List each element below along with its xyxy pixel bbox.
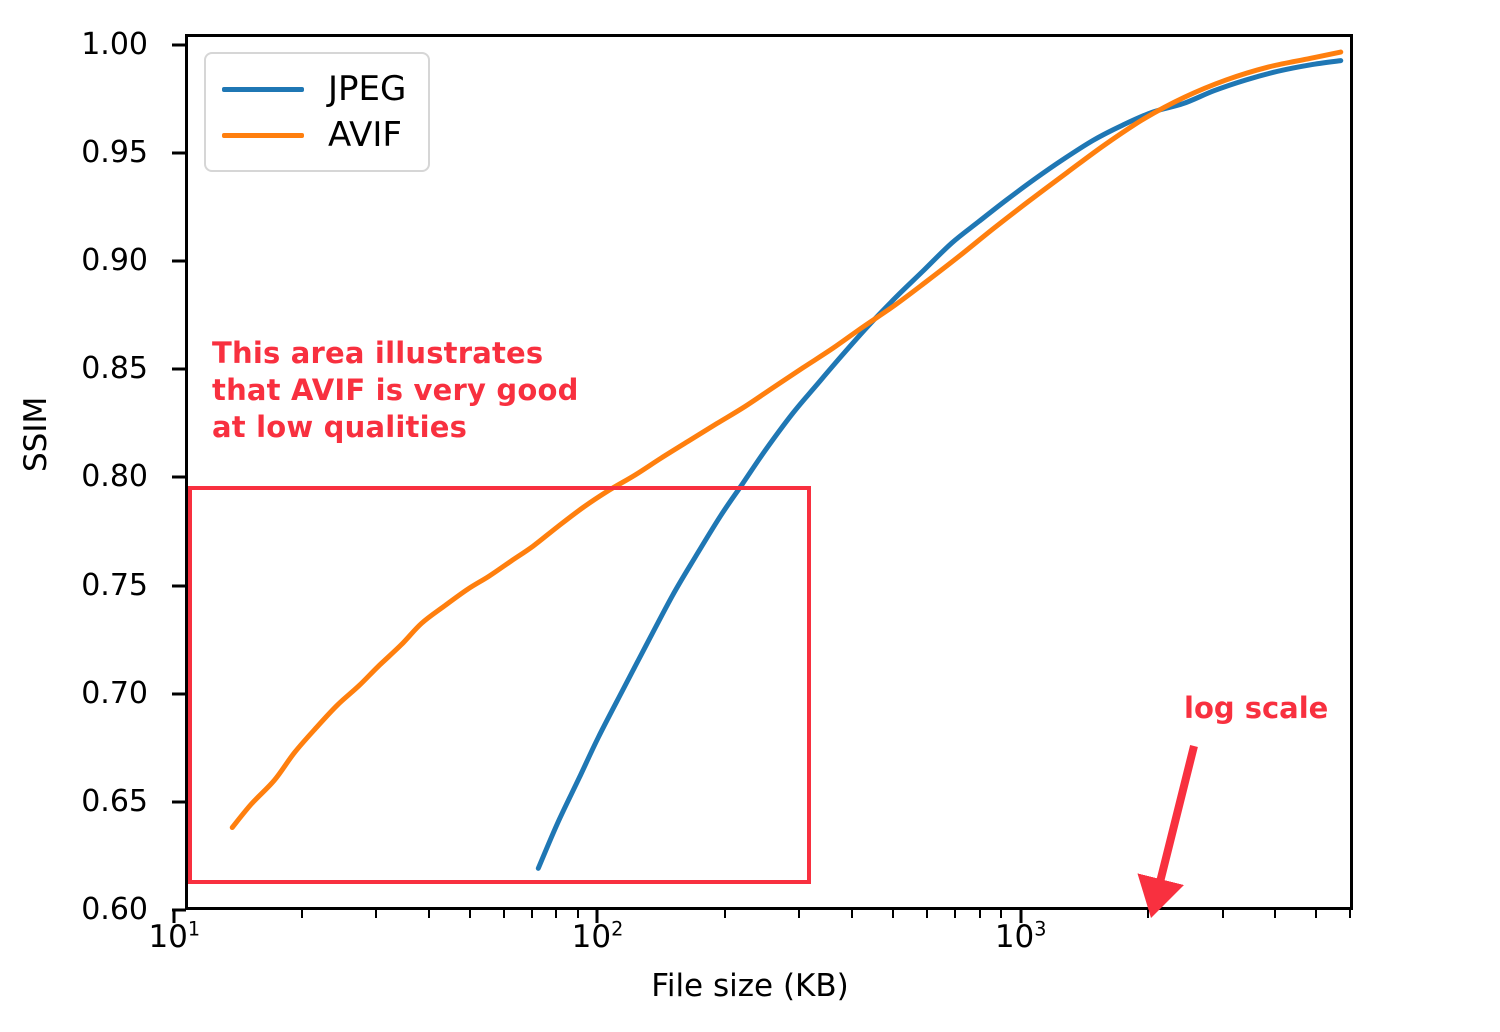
x-tick-label: 103 — [995, 920, 1047, 954]
y-tick-label: 0.75 — [81, 571, 148, 601]
y-tick-mark — [172, 800, 186, 803]
x-tick-mark-minor — [577, 910, 579, 918]
legend-item-avif[interactable]: AVIF — [222, 112, 406, 158]
x-tick-mark-minor — [469, 910, 471, 918]
x-tick-mark-major — [596, 910, 599, 923]
y-tick-label: 0.90 — [81, 246, 148, 276]
x-tick-mark-major — [173, 910, 176, 923]
y-tick-mark — [172, 368, 186, 371]
x-tick-mark-minor — [851, 910, 853, 918]
y-tick-label: 0.85 — [81, 354, 148, 384]
x-tick-mark-minor — [1222, 910, 1224, 918]
y-tick-mark — [172, 151, 186, 154]
y-tick-label: 0.60 — [81, 895, 148, 925]
legend-label-avif: AVIF — [328, 118, 402, 152]
x-tick-mark-minor — [724, 910, 726, 918]
x-tick-mark-minor — [979, 910, 981, 918]
x-tick-mark-minor — [892, 910, 894, 918]
annotation-arrow-icon — [1100, 730, 1260, 920]
legend-swatch-avif — [222, 133, 304, 138]
chart-figure: SSIM File size (KB) This area illustrate… — [0, 0, 1500, 1032]
x-tick-mark-minor — [375, 910, 377, 918]
legend[interactable]: JPEG AVIF — [204, 52, 430, 172]
y-tick-label: 0.80 — [81, 462, 148, 492]
y-axis-label: SSIM — [18, 397, 54, 472]
y-tick-mark — [172, 692, 186, 695]
y-tick-mark — [172, 476, 186, 479]
x-tick-mark-minor — [1274, 910, 1276, 918]
annotation-log-scale-label: log scale — [1184, 691, 1328, 726]
x-tick-mark-minor — [555, 910, 557, 918]
y-tick-label: 0.65 — [81, 787, 148, 817]
legend-label-jpeg: JPEG — [328, 72, 406, 106]
x-tick-label: 101 — [148, 920, 200, 954]
x-tick-mark-minor — [1349, 910, 1351, 918]
x-tick-mark-minor — [301, 910, 303, 918]
x-tick-mark-minor — [954, 910, 956, 918]
y-tick-label: 0.95 — [81, 138, 148, 168]
x-tick-mark-minor — [428, 910, 430, 918]
y-tick-label: 1.00 — [81, 30, 148, 60]
y-tick-mark — [172, 43, 186, 46]
legend-swatch-jpeg — [222, 87, 304, 92]
x-tick-mark-minor — [503, 910, 505, 918]
x-tick-mark-minor — [798, 910, 800, 918]
x-tick-mark-minor — [531, 910, 533, 918]
x-tick-mark-minor — [1000, 910, 1002, 918]
legend-item-jpeg[interactable]: JPEG — [222, 66, 406, 112]
y-tick-mark — [172, 260, 186, 263]
x-tick-mark-minor — [1315, 910, 1317, 918]
x-tick-mark-minor — [1147, 910, 1149, 918]
x-axis-label: File size (KB) — [0, 968, 1500, 1004]
x-tick-mark-major — [1019, 910, 1022, 923]
x-tick-label: 102 — [572, 920, 624, 954]
y-tick-label: 0.70 — [81, 679, 148, 709]
y-tick-mark — [172, 584, 186, 587]
annotation-area-note: This area illustrates that AVIF is very … — [212, 335, 579, 446]
x-tick-mark-minor — [926, 910, 928, 918]
